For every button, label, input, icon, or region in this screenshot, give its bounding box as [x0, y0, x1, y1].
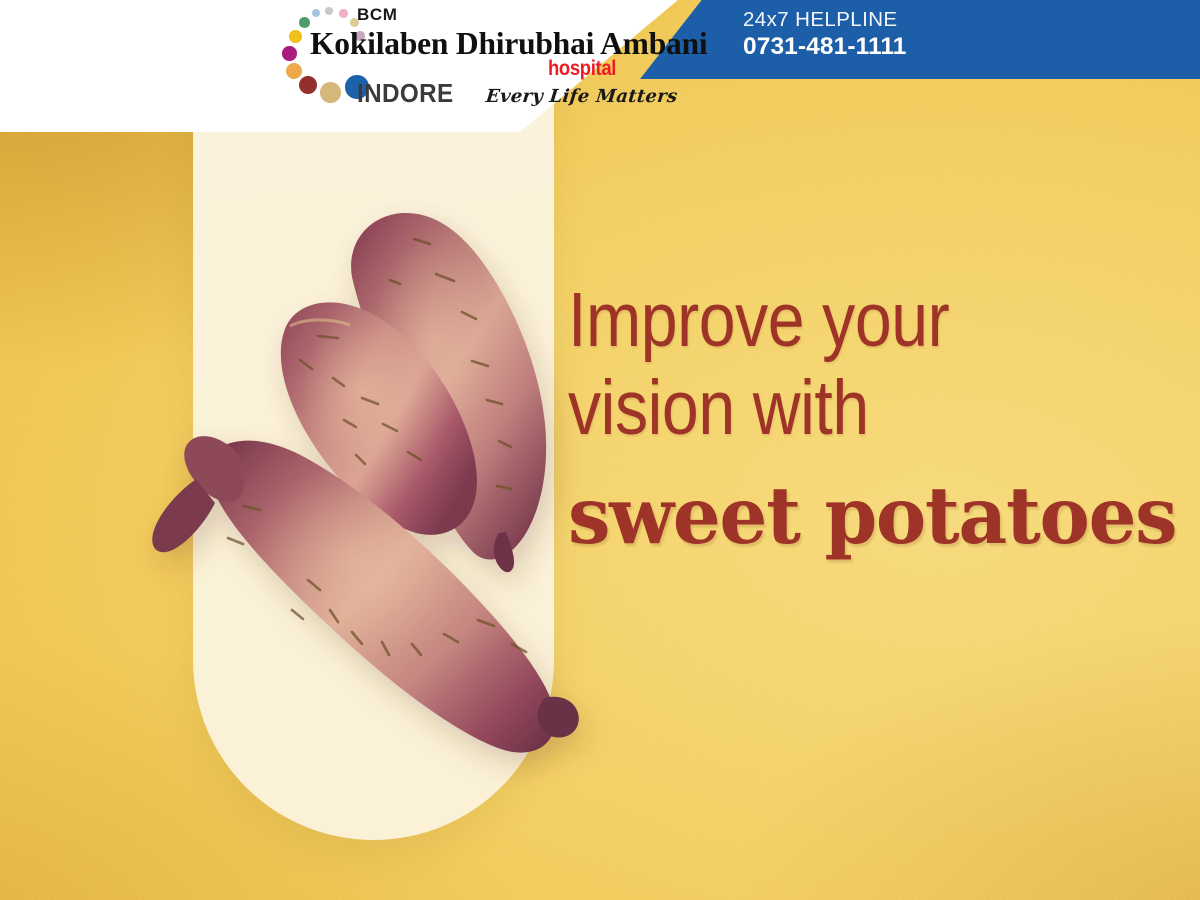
promotional-poster: 24x7 HELPLINE 0731-481-1111 BCM Kokilabe… [0, 0, 1200, 900]
helpline-number[interactable]: 0731-481-1111 [743, 34, 1073, 60]
logo-brand-name: Kokilaben Dhirubhai Ambani [310, 26, 707, 62]
dot-light-grey-icon [325, 7, 333, 15]
dot-pink-icon [339, 9, 348, 18]
logo-tagline: Every Life Matters [485, 86, 679, 107]
logo-bcm-label: BCM [357, 5, 398, 25]
dot-tan-icon [320, 82, 341, 103]
helpline-label: 24x7 HELPLINE [743, 9, 1073, 31]
helpline-text-group: 24x7 HELPLINE 0731-481-1111 [743, 9, 1073, 61]
dot-orange-icon [286, 63, 302, 79]
headline-emphasis: sweet potatoes [568, 474, 1141, 558]
headline-block: Improve your vision with sweet potatoes [568, 276, 1168, 558]
logo-hospital-label: hospital [548, 57, 616, 81]
dot-yellow-icon [289, 30, 302, 43]
dot-dark-red-icon [299, 76, 317, 94]
dot-green-icon [299, 17, 310, 28]
headline-line-1: Improve your [568, 276, 1084, 364]
dot-magenta-icon [282, 46, 297, 61]
dot-light-blue-icon [312, 9, 320, 17]
headline-line-2: vision with [568, 364, 1084, 452]
logo-location-label: INDORE [357, 80, 453, 109]
